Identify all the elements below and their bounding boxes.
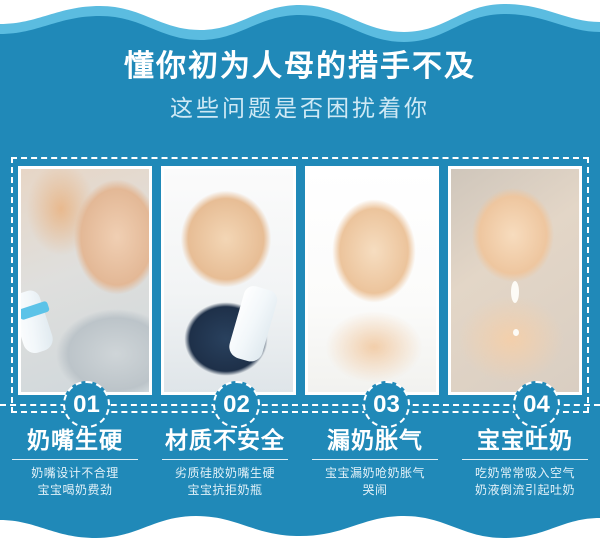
page-title: 懂你初为人母的措手不及 xyxy=(0,48,600,86)
number-badge-02: 02 xyxy=(213,381,260,428)
header: 懂你初为人母的措手不及 这些问题是否困扰着你 xyxy=(0,48,600,123)
caption-title-04: 宝宝吐奶 xyxy=(450,425,600,455)
milk-drip-icon xyxy=(511,281,519,303)
caption-row: 奶嘴生硬 奶嘴设计不合理 宝宝喝奶费劲 材质不安全 劣质硅胶奶嘴生硬 宝宝抗拒奶… xyxy=(0,425,600,499)
caption-block-03: 漏奶胀气 宝宝漏奶呛奶胀气 哭闹 xyxy=(300,425,450,499)
photo-image-toddler-crying-holding-bottle xyxy=(164,169,292,392)
photo-card-04[interactable] xyxy=(448,166,582,395)
caption-block-01: 奶嘴生硬 奶嘴设计不合理 宝宝喝奶费劲 xyxy=(0,425,150,499)
caption-divider xyxy=(462,459,588,460)
caption-title-03: 漏奶胀气 xyxy=(300,425,450,455)
caption-line-01-a: 奶嘴设计不合理 xyxy=(0,465,150,482)
number-badge-04: 04 xyxy=(513,381,560,428)
photo-card-03[interactable] xyxy=(305,166,439,395)
caption-divider xyxy=(162,459,288,460)
photo-image-crying-baby-refusing-bottle xyxy=(21,169,149,392)
photo-card-02[interactable] xyxy=(161,166,295,395)
caption-title-01: 奶嘴生硬 xyxy=(0,425,150,455)
number-badge-01: 01 xyxy=(63,381,110,428)
milk-droplet-icon xyxy=(513,329,519,336)
caption-line-02-a: 劣质硅胶奶嘴生硬 xyxy=(150,465,300,482)
photo-image-baby-spitting-up-milk xyxy=(451,169,579,392)
caption-line-01-b: 宝宝喝奶费劲 xyxy=(0,482,150,499)
number-badge-group: 01 02 03 04 xyxy=(0,381,600,429)
caption-line-03-b: 哭闹 xyxy=(300,482,450,499)
caption-line-04-a: 吃奶常常吸入空气 xyxy=(450,465,600,482)
caption-block-02: 材质不安全 劣质硅胶奶嘴生硬 宝宝抗拒奶瓶 xyxy=(150,425,300,499)
caption-line-02-b: 宝宝抗拒奶瓶 xyxy=(150,482,300,499)
number-badge-03: 03 xyxy=(363,381,410,428)
photo-card-01[interactable] xyxy=(18,166,152,395)
caption-line-04-b: 奶液倒流引起吐奶 xyxy=(450,482,600,499)
page-subtitle: 这些问题是否困扰着你 xyxy=(0,93,600,123)
caption-title-02: 材质不安全 xyxy=(150,425,300,455)
caption-divider xyxy=(12,459,138,460)
baby-bottle-icon xyxy=(21,288,56,356)
caption-divider xyxy=(312,459,438,460)
photo-image-crying-baby-on-white xyxy=(308,169,436,392)
promo-banner: 懂你初为人母的措手不及 这些问题是否困扰着你 xyxy=(0,0,600,557)
caption-line-03-a: 宝宝漏奶呛奶胀气 xyxy=(300,465,450,482)
photo-row xyxy=(18,166,582,395)
baby-bottle-icon xyxy=(227,284,280,365)
caption-block-04: 宝宝吐奶 吃奶常常吸入空气 奶液倒流引起吐奶 xyxy=(450,425,600,499)
